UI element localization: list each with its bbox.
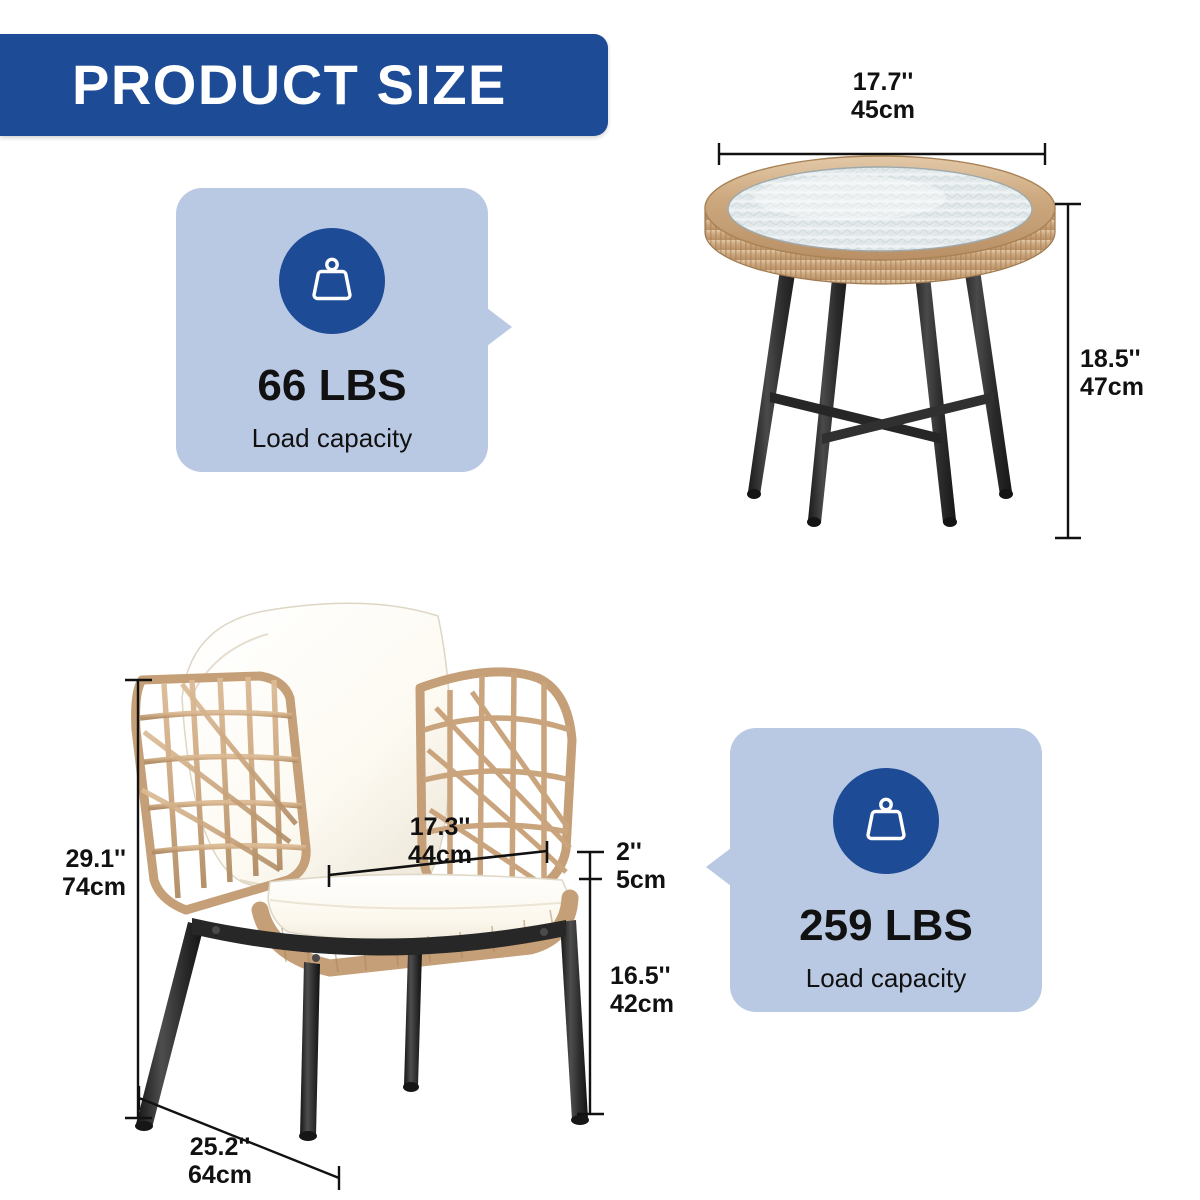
weight-icon [857,792,915,850]
weight-icon-badge [833,768,939,874]
callout-tail-left [706,848,731,886]
table-height-label: 18.5'' 47cm [1080,345,1144,401]
chair-depth-label: 25.2'' 64cm [150,1133,290,1189]
chair-depth-metric: 64cm [150,1161,290,1189]
chair-height-dimension-line [122,668,162,1130]
cushion-thickness-inches: 2'' [616,838,666,866]
table-capacity-value: 66 LBS [257,364,406,408]
chair-height-label: 29.1'' 74cm [28,845,126,901]
table-height-metric: 47cm [1080,373,1144,401]
header-banner: PRODUCT SIZE [0,34,608,136]
seat-width-inches: 17.3'' [380,813,500,841]
chair-height-metric: 74cm [28,873,126,901]
table-load-capacity-callout: 66 LBS Load capacity [176,188,488,472]
table-width-dimension-line [705,138,1060,170]
table-height-inches: 18.5'' [1080,345,1144,373]
seat-height-inches: 16.5'' [610,962,674,990]
table-width-label: 17.7'' 45cm [788,68,978,124]
cushion-thickness-metric: 5cm [616,866,666,894]
seat-width-label: 17.3'' 44cm [380,813,500,869]
weight-icon-badge [279,228,385,334]
table-width-inches: 17.7'' [788,68,978,96]
chair-capacity-value: 259 LBS [799,904,973,948]
chair-depth-inches: 25.2'' [150,1133,290,1161]
callout-tail-right [487,308,512,346]
seat-height-metric: 42cm [610,990,674,1018]
page-title: PRODUCT SIZE [72,57,507,113]
chair-capacity-label: Load capacity [806,965,966,991]
chair-load-capacity-callout: 259 LBS Load capacity [730,728,1042,1012]
table-width-metric: 45cm [788,96,978,124]
weight-icon [303,252,361,310]
seat-height-label: 16.5'' 42cm [610,962,674,1018]
seat-width-metric: 44cm [380,841,500,869]
table-capacity-label: Load capacity [252,425,412,451]
table-top [705,156,1055,284]
cushion-thickness-label: 2'' 5cm [616,838,666,894]
chair-height-inches: 29.1'' [28,845,126,873]
